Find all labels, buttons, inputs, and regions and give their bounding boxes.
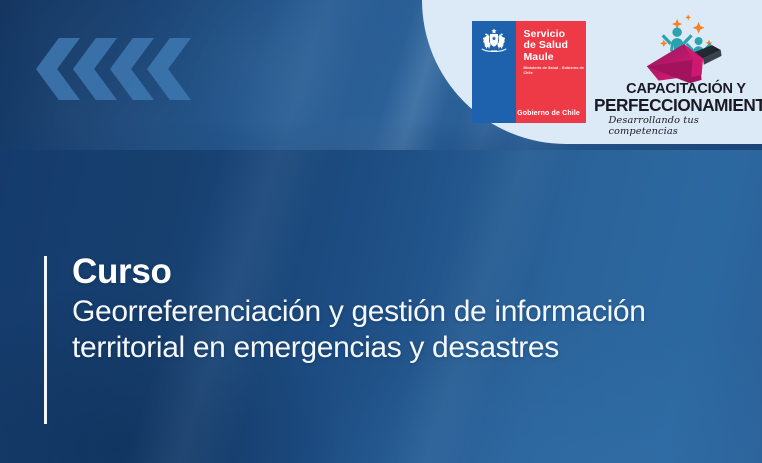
capacitacion-tagline: Desarrollando tus competencias: [608, 115, 762, 137]
logo-title: Servicio de Salud Maule: [523, 29, 586, 63]
logo-red-panel: Servicio de Salud Maule Ministerio de Sa…: [516, 21, 586, 123]
chile-coat-of-arms-icon: [479, 28, 509, 54]
capacitacion-perfeccionamiento-logo: CAPACITACIÓN Y PERFECCIONAMIENTO Desarro…: [610, 10, 762, 137]
capacitacion-line-2: PERFECCIONAMIENTO: [594, 97, 762, 114]
logo-subtitle: Ministerio de Salud - Gobierno de Chile: [523, 66, 586, 75]
headline-text: Curso Georreferenciación y gestión de in…: [72, 252, 712, 424]
logo-blue-panel: [472, 21, 516, 123]
logo-panel: Servicio de Salud Maule Ministerio de Sa…: [422, 0, 762, 144]
headline-block: Curso Georreferenciación y gestión de in…: [44, 252, 712, 424]
chevron-group: [36, 38, 191, 100]
open-book-with-people-icon: [630, 10, 742, 84]
course-banner: Servicio de Salud Maule Ministerio de Sa…: [0, 0, 762, 463]
logo-title-line3: Maule: [523, 52, 586, 63]
servicio-salud-maule-logo: Servicio de Salud Maule Ministerio de Sa…: [472, 21, 586, 123]
course-kicker: Curso: [72, 252, 712, 291]
accent-bar: [44, 256, 47, 424]
chevron-left-icon: [147, 38, 191, 100]
course-title: Georreferenciación y gestión de informac…: [72, 294, 712, 365]
logo-footer: Gobierno de Chile: [517, 110, 580, 117]
